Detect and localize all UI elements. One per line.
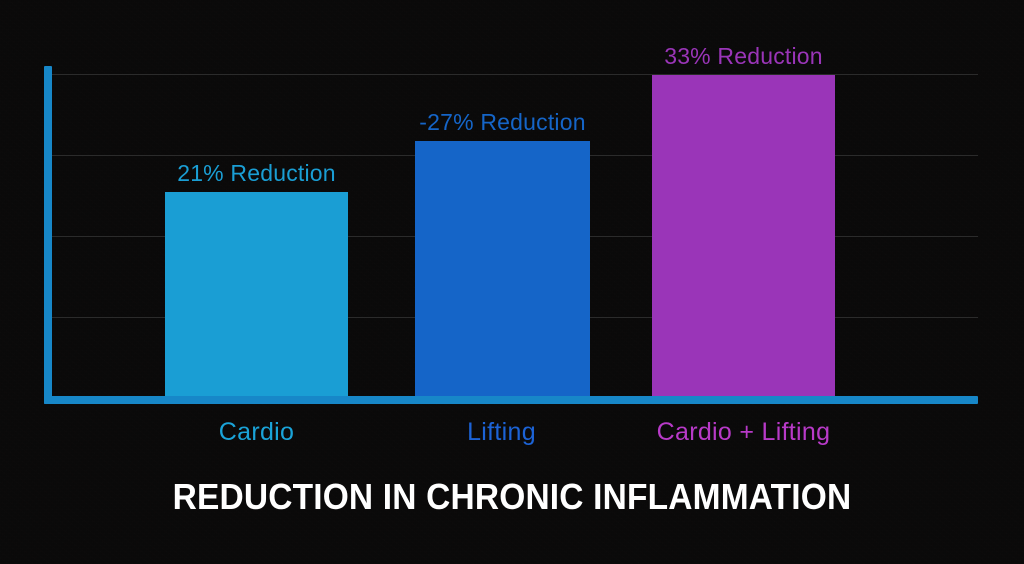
bar-cardio[interactable] [165, 192, 348, 396]
x-axis-line [44, 396, 978, 404]
chart-canvas: 21% Reduction -27% Reduction 33% Reducti… [0, 0, 1024, 564]
bar-cardio-plus-lifting[interactable] [652, 75, 835, 396]
bar-lifting[interactable] [415, 141, 590, 396]
x-tick-label-cardio: Cardio [126, 418, 387, 447]
bar-value-label-cardio: 21% Reduction [125, 160, 388, 187]
x-tick-label-lifting: Lifting [371, 418, 632, 447]
bar-value-label-lifting: -27% Reduction [371, 109, 634, 136]
chart-title: REDUCTION IN CHRONIC INFLAMMATION [36, 476, 988, 518]
x-tick-label-cardio-plus-lifting: Cardio + Lifting [613, 418, 874, 447]
bar-value-label-cardio-plus-lifting: 33% Reduction [612, 43, 875, 70]
